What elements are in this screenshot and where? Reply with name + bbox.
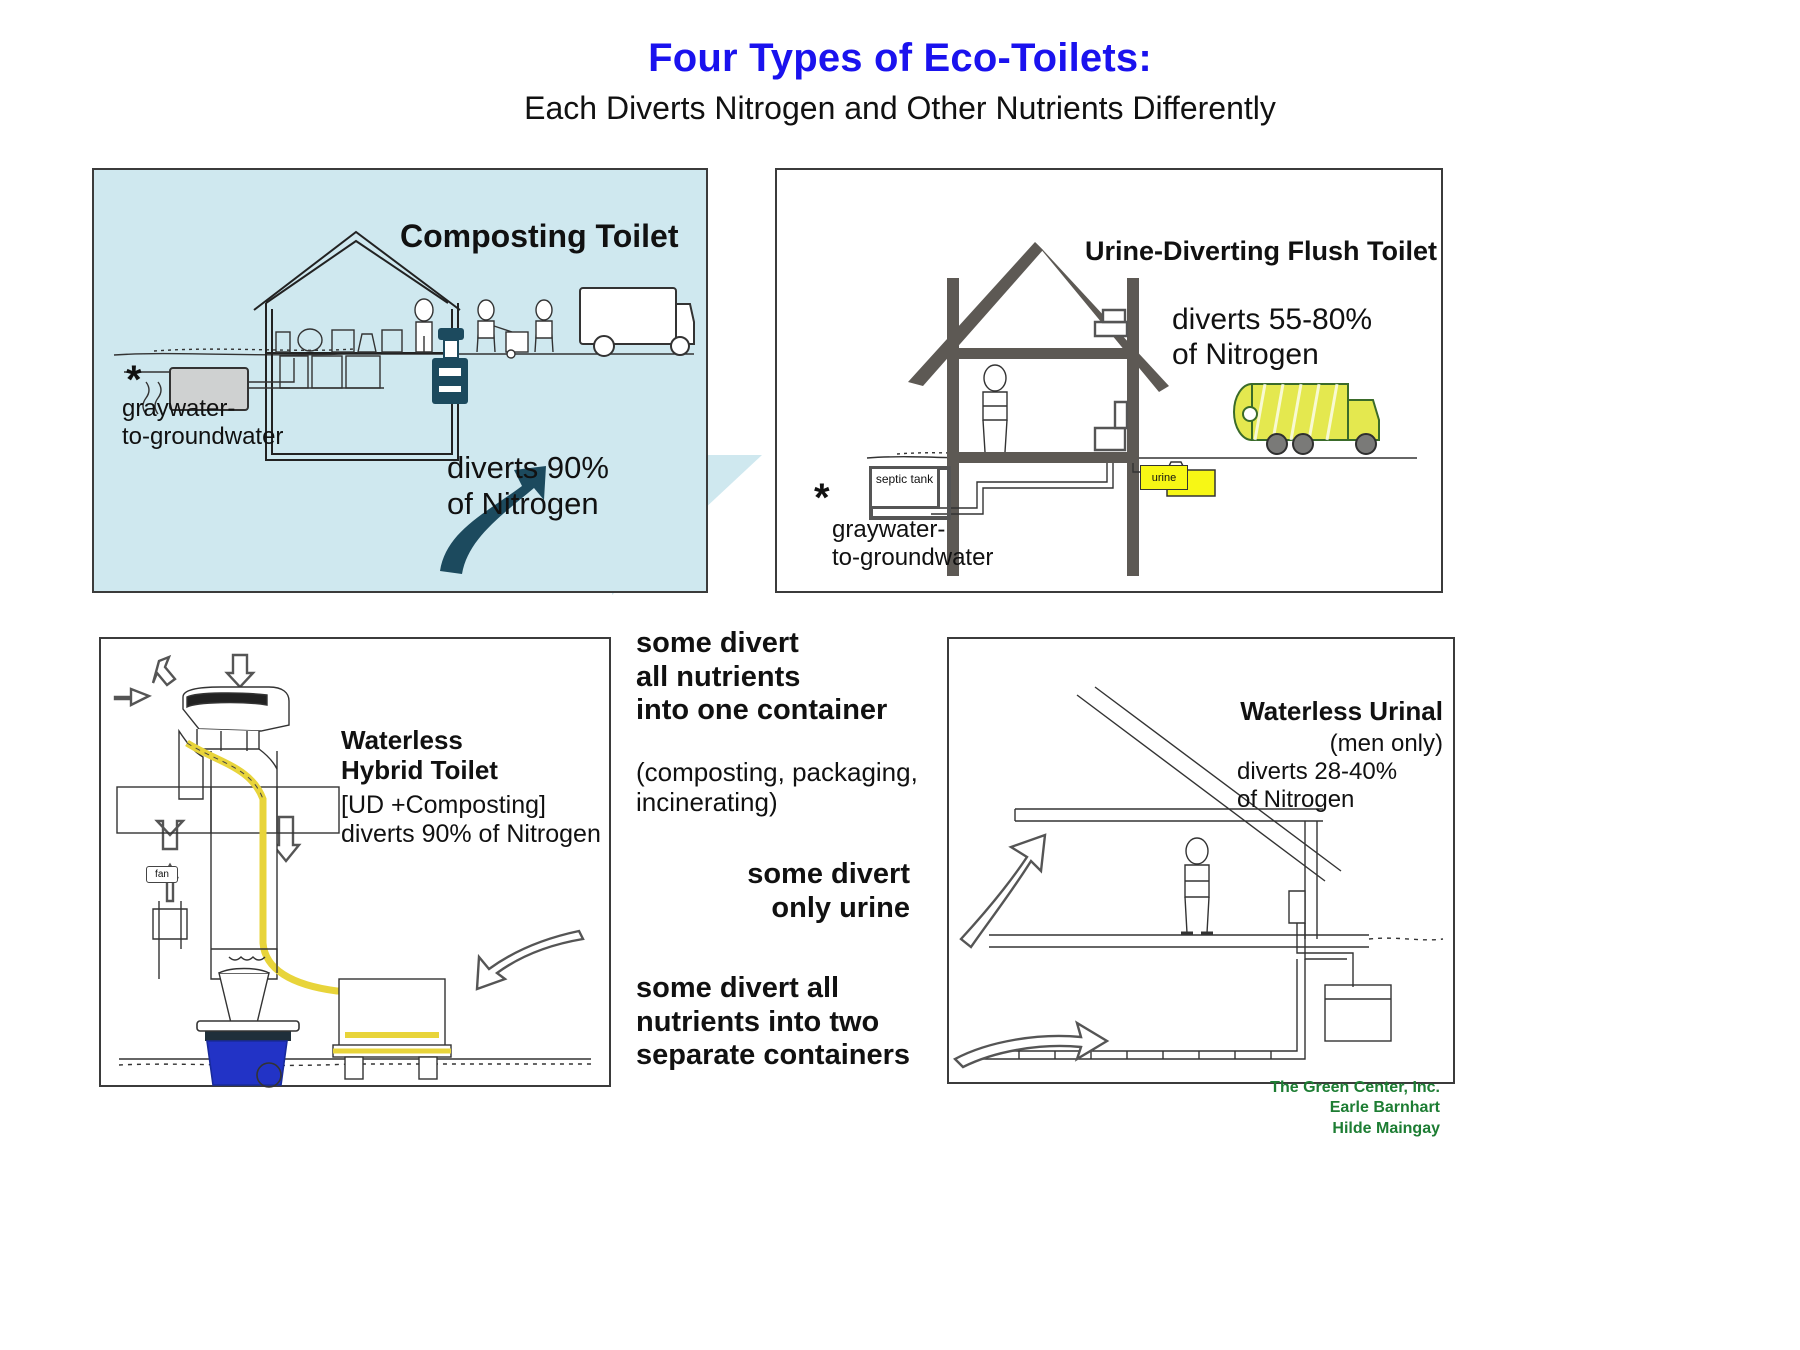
ud-flush-diverts-note: diverts 55-80% of Nitrogen (1172, 303, 1372, 373)
hybrid-toilet-subnote: [UD +Composting] diverts 90% of Nitrogen (341, 791, 601, 849)
credits-person-1: Earle Barnhart (1250, 1098, 1440, 1118)
fan-label: fan (146, 866, 178, 883)
composting-graywater-note: graywater- to-groundwater (122, 395, 283, 451)
page-title: Four Types of Eco-Toilets: (0, 36, 1800, 81)
composting-asterisk: * (126, 360, 142, 400)
hybrid-toilet-illustration (101, 639, 609, 1085)
ud-flush-asterisk: * (814, 478, 830, 518)
center-note-only-urine: some divert only urine (726, 858, 910, 925)
waterless-urinal-diverts-note: diverts 28-40% of Nitrogen (1237, 758, 1467, 814)
septic-tank-label: septic tank (869, 466, 940, 509)
page-subtitle: Each Diverts Nitrogen and Other Nutrient… (0, 90, 1800, 127)
credits-org: The Green Center, Inc. (1250, 1078, 1440, 1098)
hybrid-toilet-heading: Waterless Hybrid Toilet (341, 725, 498, 785)
waterless-urinal-heading: Waterless Urinal (1237, 696, 1443, 726)
infographic-canvas: Four Types of Eco-Toilets: Each Diverts … (0, 0, 1800, 1350)
ud-flush-heading: Urine-Diverting Flush Toilet (1085, 236, 1437, 267)
composting-diverts-note: diverts 90% of Nitrogen (447, 450, 609, 522)
panel-waterless-hybrid-toilet (99, 637, 611, 1087)
ud-flush-graywater-note: graywater- to-groundwater (832, 516, 993, 572)
waterless-urinal-men-only: (men only) (1237, 730, 1443, 758)
urine-container-label: urine (1140, 465, 1188, 490)
credits-person-2: Hilde Maingay (1250, 1119, 1440, 1139)
composting-toilet-heading: Composting Toilet (400, 218, 678, 255)
center-note-one-container-detail: (composting, packaging, incinerating) (636, 757, 918, 817)
credits: The Green Center, Inc. Earle Barnhart Hi… (1250, 1078, 1440, 1139)
center-note-two-containers: some divert all nutrients into two separ… (636, 972, 910, 1073)
center-note-one-container: some divert all nutrients into one conta… (636, 627, 887, 728)
